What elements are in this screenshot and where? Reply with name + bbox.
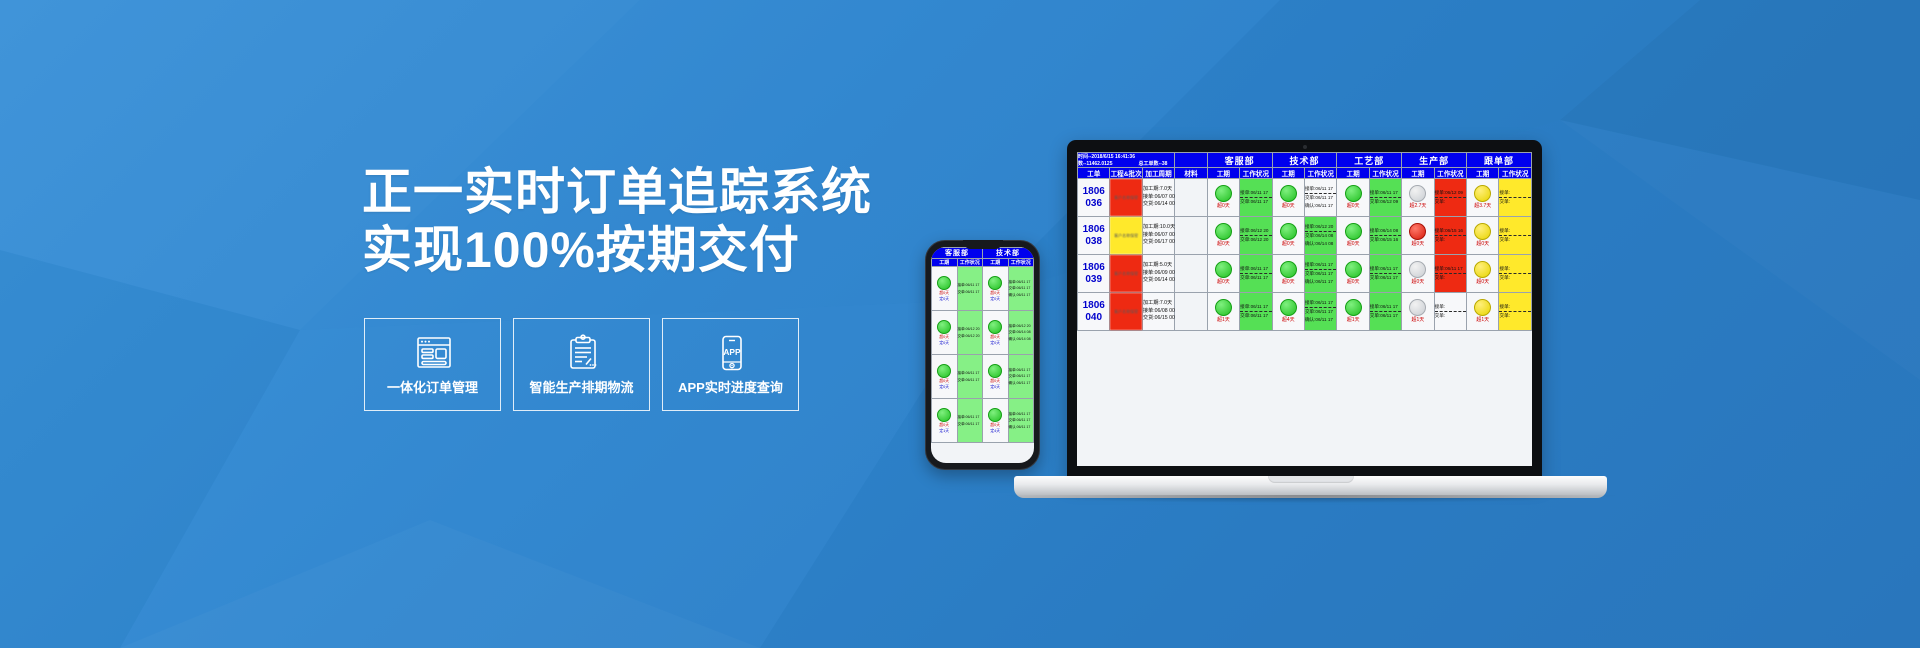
status-confirmed: 确认:06/11 17 [1009,380,1034,386]
status-delivered: 交单:06/14 08 [1305,231,1336,240]
phone-erp-table[interactable]: 客服部 技术部 工期 工作状况 工期 工作状况 超0天定0天接单:06/11 1… [931,247,1034,443]
workorder-suffix: 036 [1078,198,1109,210]
status-delivered: 交单: [1499,235,1531,244]
status-delivered: 交单:06/11 17 [1370,273,1401,282]
workorder-cell[interactable]: 1806036 [1078,179,1110,217]
overdue-days: 超0天 [1273,240,1304,248]
table-row[interactable]: 1806039客户名称保密加工期:5.0天接单:06/09 00交货:06/14… [1078,255,1532,293]
phone-dept-header: 技术部 [983,248,1034,259]
status-received: 接单:06/14 08 [1370,227,1401,235]
cycle-days: 加工期:10.0天 [1143,224,1174,231]
overdue-days: 超0天 [1402,278,1433,286]
erp-col-header-workorder: 工单 [1078,168,1110,179]
workorder-prefix: 1806 [1078,300,1109,312]
phone-col-header: 工作状况 [1008,259,1034,267]
list-item[interactable]: 超0天定1天接单:06/11 17交单:06/11 17超0天定4天接单:06/… [932,399,1034,443]
overdue-days: 超1天 [1337,316,1368,324]
phone-dept-status-cell[interactable]: 接单:06/11 17交单:06/11 17确认:06/11 17 [1008,267,1034,311]
erp-col-header-project: 工程&批次 [1110,168,1142,179]
status-delivered: 交单: [1499,273,1531,282]
status-delivered: 交单:06/15 16 [1370,235,1401,244]
status-delivered: 交单:06/14 08 [1009,329,1034,335]
phone-dept-header-row: 客服部 技术部 [932,248,1034,259]
phone-frame: 客服部 技术部 工期 工作状况 工期 工作状况 超0天定0天接单:06/11 1… [925,240,1040,470]
status-received: 接单:06/15 16 [1435,227,1466,235]
phone-col-header-row: 工期 工作状况 工期 工作状况 [932,259,1034,267]
status-dot-green [1215,223,1232,240]
overdue-days: 超0天 [1467,278,1498,286]
hero-copy: 正一实时订单追踪系统 实现100%按期交付 [362,163,922,279]
phone-dept-status-cell[interactable]: 接单:06/11 17交单:06/11 17 [957,399,983,443]
dept-status-cell[interactable]: 接单:交单: [1499,293,1532,331]
status-delivered: 交单:06/11 17 [1240,273,1271,282]
table-row[interactable]: 1806040客户名称保密加工期:7.0天接单:06/08 00交货:06/15… [1078,293,1532,331]
planned-days: 定0天 [932,296,957,302]
dept-duration-cell[interactable]: 超0天 [1207,255,1239,293]
cycle-cell: 加工期:10.0天接单:06/07 00交货:06/17 00 [1142,217,1174,255]
status-confirmed: 确认:06/11 17 [1305,316,1336,324]
dept-duration-cell[interactable]: 超0天 [1207,217,1239,255]
cycle-cell: 加工期:7.0天接单:06/08 00交货:06/15 00 [1142,293,1174,331]
dept-duration-cell[interactable]: 超0天 [1467,217,1499,255]
phone-dept-status-cell[interactable]: 接单:06/11 17交单:06/11 17 [957,267,983,311]
material-cell [1175,255,1207,293]
overdue-days: 超0天 [1337,240,1368,248]
overdue-days: 超0天 [1208,278,1239,286]
erp-col-header-status: 工作状况 [1434,168,1466,179]
status-delivered: 交单:06/12 20 [1240,235,1271,244]
status-received: 接单:06/12 20 [958,326,983,332]
dept-duration-cell[interactable]: 超1天 [1467,293,1499,331]
status-received: 接单:06/11 17 [1305,261,1336,269]
dept-duration-cell[interactable]: 超1天 [1207,293,1239,331]
status-dot-green [937,364,951,378]
dept-status-cell[interactable]: 接单:交单: [1434,293,1466,331]
feature-card-production-scheduling[interactable]: 智能生产排期物流 [513,318,650,411]
customer-cell: 客户名称保密 [1110,255,1142,293]
phone-col-header: 工期 [983,259,1009,267]
overdue-days: 超2.7天 [1402,202,1433,210]
status-received: 接单:06/11 17 [1240,303,1271,311]
erp-col-header-duration: 工期 [1272,168,1304,179]
laptop-mockup: 时间--2018/6/15 16:41:36 数--11462.0125 总工单… [1053,140,1653,515]
customer-cell: 客户名称保密 [1110,179,1142,217]
phone-dept-status-cell[interactable]: 接单:06/12 20交单:06/14 08确认:06/14 08 [1008,311,1034,355]
overdue-days: 超3.7天 [1467,202,1498,210]
cycle-cell: 加工期:7.0天接单:06/07 00交货:06/14 00 [1142,179,1174,217]
status-dot-green [1345,299,1362,316]
status-received: 接单:06/12 09 [1435,189,1466,197]
cycle-days: 加工期:7.0天 [1143,300,1174,307]
dept-duration-cell[interactable]: 超3.7天 [1467,179,1499,217]
dept-status-cell[interactable]: 接单:06/14 08交单:06/15 16 [1369,217,1401,255]
overdue-days: 超0天 [1337,278,1368,286]
erp-board[interactable]: 时间--2018/6/15 16:41:36 数--11462.0125 总工单… [1077,152,1532,466]
workorder-prefix: 1806 [1078,262,1109,274]
planned-days: 定0天 [932,384,957,390]
status-dot-green [1345,261,1362,278]
mobile-app-icon: APP [709,333,753,371]
status-dot-gray [1409,185,1426,202]
due-date: 交货:06/15 00 [1143,315,1174,322]
status-confirmed: 确认:06/11 17 [1009,292,1034,298]
status-dot-green [937,276,951,290]
feature-card-app-progress-query[interactable]: APP APP实时进度查询 [662,318,799,411]
list-item[interactable]: 超0天定0天接单:06/11 17交单:06/11 17超0天定0天接单:06/… [932,267,1034,311]
planned-days: 定0天 [983,340,1008,346]
status-confirmed: 确认:06/11 17 [1305,278,1336,286]
status-delivered: 交单:06/11 17 [1370,311,1401,320]
status-confirmed: 确认:06/11 17 [1009,424,1034,430]
workorder-cell[interactable]: 1806039 [1078,255,1110,293]
status-dot-green [1215,299,1232,316]
erp-table[interactable]: 时间--2018/6/15 16:41:36 数--11462.0125 总工单… [1077,152,1532,331]
dept-duration-cell[interactable]: 超1天 [1337,293,1369,331]
phone-col-header: 工作状况 [957,259,983,267]
phone-dept-duration-cell[interactable]: 超0天定0天 [932,311,958,355]
dept-status-cell[interactable]: 接单:06/12 20交单:06/12 20 [1240,217,1272,255]
feature-label: 智能生产排期物流 [529,377,633,396]
status-received: 接单:06/11 17 [958,370,983,376]
status-delivered: 交单:06/11 17 [1240,311,1271,320]
cycle-days: 加工期:5.0天 [1143,262,1174,269]
phone-dept-duration-cell[interactable]: 超0天定0天 [983,355,1009,399]
phone-dept-status-cell[interactable]: 接单:06/12 20交单:06/12 20 [957,311,983,355]
status-received: 接单:06/11 17 [1370,189,1401,197]
phone-erp-board[interactable]: 客服部 技术部 工期 工作状况 工期 工作状况 超0天定0天接单:06/11 1… [931,247,1034,463]
feature-list: 一体化订单管理 智能生产排期物流 [364,318,799,411]
erp-col-header-status: 工作状况 [1240,168,1272,179]
status-received: 接单: [1499,189,1531,197]
dept-duration-cell[interactable]: 超0天 [1272,217,1304,255]
erp-dept-header-shengchan: 生产部 [1402,153,1467,168]
laptop-lid: 时间--2018/6/15 16:41:36 数--11462.0125 总工单… [1067,140,1542,480]
status-delivered: 交单: [1435,311,1466,320]
phone-dept-duration-cell[interactable]: 超0天定0天 [932,355,958,399]
status-received: 接单:06/12 20 [1305,223,1336,231]
phone-erp-thead: 客服部 技术部 工期 工作状况 工期 工作状况 [932,248,1034,267]
status-delivered: 交单:06/11 17 [1009,285,1034,291]
status-dot-green [1215,261,1232,278]
status-delivered: 交单:06/11 17 [1009,373,1034,379]
erp-meta-cell: 时间--2018/6/15 16:41:36 数--11462.0125 总工单… [1078,153,1175,168]
table-row[interactable]: 1806036客户名称保密加工期:7.0天接单:06/07 00交货:06/14… [1078,179,1532,217]
overdue-days: 超0天 [1402,240,1433,248]
status-dot-green [1215,185,1232,202]
status-dot-green [1280,261,1297,278]
erp-count-label: 数--11462.0125 [1078,160,1112,167]
planned-days: 定0天 [983,296,1008,302]
dept-duration-cell[interactable]: 超0天 [1207,179,1239,217]
status-dot-gray [1409,261,1426,278]
status-dot-green [937,408,951,422]
due-date: 交货:06/14 00 [1143,201,1174,208]
planned-days: 定4天 [983,428,1008,434]
status-delivered: 交单:06/11 17 [1305,307,1336,316]
status-received: 接单: [1499,265,1531,273]
overdue-days: 超0天 [1208,202,1239,210]
list-item[interactable]: 超0天定0天接单:06/12 20交单:06/12 20超0天定0天接单:06/… [932,311,1034,355]
planned-days: 定0天 [983,384,1008,390]
erp-meta-row: 时间--2018/6/15 16:41:36 数--11462.0125 总工单… [1078,153,1532,168]
erp-col-header-status: 工作状况 [1499,168,1532,179]
dept-status-cell[interactable]: 接单:06/12 20交单:06/14 08确认:06/14 08 [1304,217,1336,255]
status-delivered: 交单: [1499,311,1531,320]
feature-card-order-management[interactable]: 一体化订单管理 [364,318,501,411]
headline-line-2: 实现100%按期交付 [362,221,922,279]
overdue-days: 超0天 [1273,202,1304,210]
erp-dept-header-gendan: 跟单部 [1467,153,1532,168]
list-item[interactable]: 超0天定0天接单:06/11 17交单:06/11 17超0天定0天接单:06/… [932,355,1034,399]
dept-status-cell[interactable]: 接单:06/11 17交单:06/11 17确认:06/11 17 [1304,179,1336,217]
erp-total-label: 总工单数--38 [1138,160,1167,167]
status-delivered: 交单:06/11 17 [1305,269,1336,278]
status-received: 接单:06/11 17 [1240,265,1271,273]
erp-thead: 时间--2018/6/15 16:41:36 数--11462.0125 总工单… [1078,153,1532,179]
phone-screen[interactable]: 客服部 技术部 工期 工作状况 工期 工作状况 超0天定0天接单:06/11 1… [931,247,1034,463]
dept-duration-cell[interactable]: 超1天 [1402,293,1434,331]
status-dot-red [1409,223,1426,240]
dept-status-cell[interactable]: 接单:交单: [1499,179,1532,217]
dept-status-cell[interactable]: 接单:06/11 17交单: [1434,255,1466,293]
erp-dept-header-gongyi: 工艺部 [1337,153,1402,168]
erp-meta-spacer [1175,153,1207,168]
erp-col-header-material: 材料 [1175,168,1207,179]
dept-duration-cell[interactable]: 超0天 [1402,255,1434,293]
status-confirmed: 确认:06/14 08 [1009,336,1034,342]
status-dot-green [1345,223,1362,240]
dept-duration-cell[interactable]: 超0天 [1272,179,1304,217]
customer-cell: 客户名称保密 [1110,293,1142,331]
status-delivered: 交单: [1435,197,1466,206]
dept-duration-cell[interactable]: 超0天 [1467,255,1499,293]
due-date: 交货:06/14 00 [1143,277,1174,284]
workorder-suffix: 038 [1078,236,1109,248]
workorder-cell[interactable]: 1806040 [1078,293,1110,331]
status-delivered: 交单:06/11 17 [1305,193,1336,202]
phone-dept-status-cell[interactable]: 接单:06/11 17交单:06/11 17确认:06/11 17 [1008,355,1034,399]
erp-col-header-row: 工单 工程&批次 加工周期 材料 工期 工作状况 工期 工作状况 工期 工作状况 [1078,168,1532,179]
dept-status-cell[interactable]: 接单:06/11 17交单:06/11 17 [1240,179,1272,217]
workorder-cell[interactable]: 1806038 [1078,217,1110,255]
dept-duration-cell[interactable]: 超0天 [1402,217,1434,255]
status-received: 接单:06/11 17 [1240,189,1271,197]
overdue-days: 超0天 [1208,240,1239,248]
status-delivered: 交单:06/12 20 [958,333,983,339]
dept-status-cell[interactable]: 接单:06/11 17交单:06/11 17 [1240,293,1272,331]
phone-dept-header: 客服部 [932,248,983,259]
dashboard-window-icon [411,333,455,371]
erp-col-header-cycle: 加工周期 [1142,168,1174,179]
table-row[interactable]: 1806038客户名称保密加工期:10.0天接单:06/07 00交货:06/1… [1078,217,1532,255]
erp-col-header-duration: 工期 [1467,168,1499,179]
phone-dept-duration-cell[interactable]: 超0天定0天 [932,267,958,311]
status-dot-yellow [1474,185,1491,202]
status-dot-green [988,364,1002,378]
material-cell [1175,293,1207,331]
smartphone-mockup: 客服部 技术部 工期 工作状况 工期 工作状况 超0天定0天接单:06/11 1… [925,240,1040,470]
status-dot-green [1280,185,1297,202]
dept-status-cell[interactable]: 接单:06/11 17交单:06/11 17 [1240,255,1272,293]
laptop-shadow [1006,495,1615,503]
status-delivered: 交单:06/11 17 [958,421,983,427]
dept-duration-cell[interactable]: 超0天 [1337,255,1369,293]
workorder-prefix: 1806 [1078,224,1109,236]
due-date: 交货:06/17 00 [1143,239,1174,246]
overdue-days: 超0天 [1337,202,1368,210]
erp-tbody[interactable]: 1806036客户名称保密加工期:7.0天接单:06/07 00交货:06/14… [1078,179,1532,331]
svg-text:APP: APP [723,347,741,357]
erp-col-header-duration: 工期 [1337,168,1369,179]
phone-dept-status-cell[interactable]: 接单:06/11 17交单:06/11 17 [957,355,983,399]
phone-dept-duration-cell[interactable]: 超0天定1天 [932,399,958,443]
phone-dept-status-cell[interactable]: 接单:06/11 17交单:06/11 17确认:06/11 17 [1008,399,1034,443]
overdue-days: 超0天 [1273,278,1304,286]
erp-col-header-duration: 工期 [1207,168,1239,179]
dept-duration-cell[interactable]: 超0天 [1337,217,1369,255]
status-delivered: 交单: [1435,273,1466,282]
dept-status-cell[interactable]: 接单:06/12 09交单: [1434,179,1466,217]
planned-days: 定1天 [932,428,957,434]
status-dot-yellow [1474,299,1491,316]
erp-dept-header-jishu: 技术部 [1272,153,1337,168]
cycle-days: 加工期:7.0天 [1143,186,1174,193]
feature-label: 一体化订单管理 [387,377,478,396]
dept-status-cell[interactable]: 接单:交单: [1499,255,1532,293]
overdue-days: 超1天 [1467,316,1498,324]
laptop-screen[interactable]: 时间--2018/6/15 16:41:36 数--11462.0125 总工单… [1077,152,1532,466]
erp-col-header-status: 工作状况 [1369,168,1401,179]
dept-duration-cell[interactable]: 超2.7天 [1402,179,1434,217]
cycle-cell: 加工期:5.0天接单:06/09 00交货:06/14 00 [1142,255,1174,293]
dept-status-cell[interactable]: 接单:06/11 17交单:06/11 17 [1369,293,1401,331]
status-dot-green [988,320,1002,334]
overdue-days: 超1天 [1208,316,1239,324]
overdue-days: 超4天 [1273,316,1304,324]
status-dot-green [988,276,1002,290]
status-confirmed: 确认:06/11 17 [1305,202,1336,210]
workorder-suffix: 040 [1078,312,1109,324]
dept-duration-cell[interactable]: 超4天 [1272,293,1304,331]
phone-erp-tbody[interactable]: 超0天定0天接单:06/11 17交单:06/11 17超0天定0天接单:06/… [932,267,1034,443]
phone-dept-duration-cell[interactable]: 超0天定4天 [983,399,1009,443]
dept-status-cell[interactable]: 接单:06/11 17交单:06/11 17 [1369,255,1401,293]
status-received: 接单: [1499,303,1531,311]
status-received: 接单:06/11 17 [1370,265,1401,273]
dept-duration-cell[interactable]: 超0天 [1272,255,1304,293]
status-received: 接单: [1499,227,1531,235]
status-dot-green [988,408,1002,422]
customer-cell: 客户名称保密 [1110,217,1142,255]
status-received: 接单:06/11 17 [958,282,983,288]
phone-dept-duration-cell[interactable]: 超0天定0天 [983,267,1009,311]
dept-status-cell[interactable]: 接单:06/15 16交单: [1434,217,1466,255]
workorder-suffix: 039 [1078,274,1109,286]
dept-status-cell[interactable]: 接单:06/11 17交单:06/11 17确认:06/11 17 [1304,255,1336,293]
status-dot-green [1280,299,1297,316]
planned-days: 定0天 [932,340,957,346]
status-delivered: 交单:06/11 17 [958,289,983,295]
status-delivered: 交单: [1499,197,1531,206]
status-received: 接单:06/12 20 [1240,227,1271,235]
headline-line-1: 正一实时订单追踪系统 [362,163,922,221]
status-dot-green [1345,185,1362,202]
status-dot-yellow [1474,261,1491,278]
status-confirmed: 确认:06/14 08 [1305,240,1336,248]
status-received: 接单:06/11 17 [1435,265,1466,273]
erp-col-header-status: 工作状况 [1304,168,1336,179]
status-received: 接单: [1435,303,1466,311]
status-received: 接单:06/11 17 [958,414,983,420]
status-delivered: 交单:06/11 17 [1009,417,1034,423]
status-received: 接单:06/11 17 [1305,299,1336,307]
erp-time-label: 时间--2018/6/15 16:41:36 [1078,153,1174,160]
status-dot-green [937,320,951,334]
hero-banner: 正一实时订单追踪系统 实现100%按期交付 一体化订单管理 [0,0,1920,648]
status-received: 接单:06/11 17 [1305,185,1336,193]
dept-duration-cell[interactable]: 超0天 [1337,179,1369,217]
status-delivered: 交单:06/12 09 [1370,197,1401,206]
phone-dept-duration-cell[interactable]: 超0天定0天 [983,311,1009,355]
overdue-days: 超0天 [1467,240,1498,248]
status-dot-yellow [1474,223,1491,240]
feature-label: APP实时进度查询 [678,377,783,396]
phone-notch [963,240,1003,249]
status-delivered: 交单:06/11 17 [1240,197,1271,206]
status-delivered: 交单: [1435,235,1466,244]
status-dot-green [1280,223,1297,240]
dept-status-cell[interactable]: 接单:交单: [1499,217,1532,255]
erp-dept-header-kefu: 客服部 [1207,153,1272,168]
material-cell [1175,179,1207,217]
workorder-prefix: 1806 [1078,186,1109,198]
material-cell [1175,217,1207,255]
phone-col-header: 工期 [932,259,958,267]
erp-col-header-duration: 工期 [1402,168,1434,179]
dept-status-cell[interactable]: 接单:06/11 17交单:06/11 17确认:06/11 17 [1304,293,1336,331]
status-delivered: 交单:06/11 17 [958,377,983,383]
status-received: 接单:06/11 17 [1370,303,1401,311]
clipboard-checklist-icon [560,333,604,371]
dept-status-cell[interactable]: 接单:06/11 17交单:06/12 09 [1369,179,1401,217]
overdue-days: 超1天 [1402,316,1433,324]
status-dot-gray [1409,299,1426,316]
